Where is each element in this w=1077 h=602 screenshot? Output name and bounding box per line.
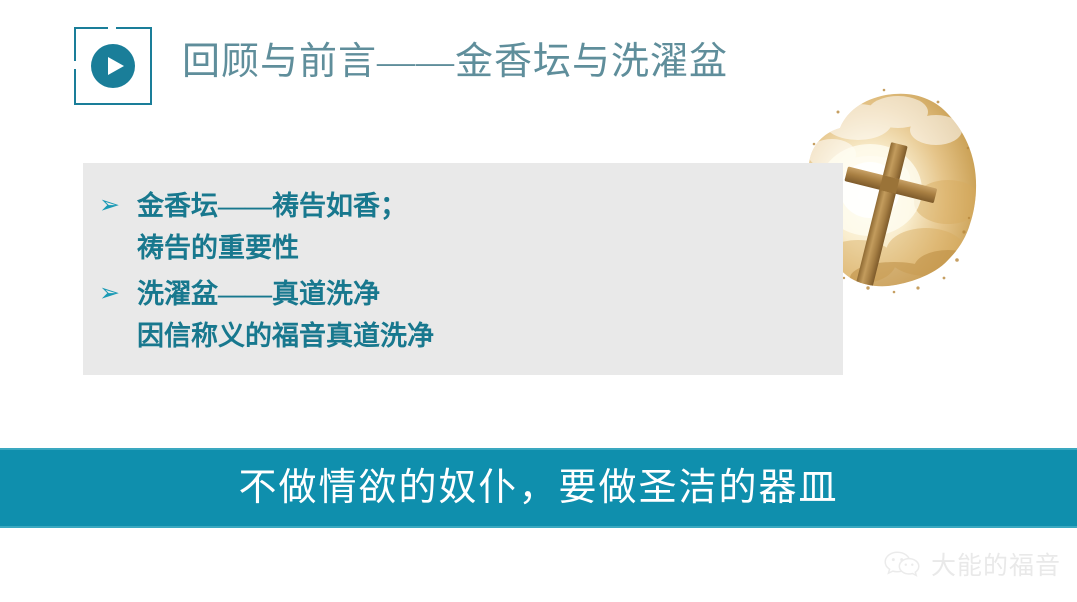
watermark: 大能的福音 (883, 549, 1061, 584)
content-panel: ➢ 金香坛——祷告如香； 祷告的重要性 ➢ 洗濯盆——真道洗净 因信称义的福音真… (83, 163, 843, 375)
bullet-subtext: 祷告的重要性 (137, 227, 833, 269)
frame-edge-top-left (94, 27, 108, 29)
play-circle (91, 44, 135, 88)
frame-corner-bottom-left (74, 83, 96, 105)
highlight-banner: 不做情欲的奴仆，要做圣洁的器皿 (0, 448, 1077, 528)
frame-corner-bottom-right (130, 83, 152, 105)
bullet-subtext: 因信称义的福音真道洗净 (137, 315, 833, 357)
presentation-slide: 回顾与前言——金香坛与洗濯盆 (0, 0, 1077, 602)
frame-edge-left-bottom (74, 69, 76, 103)
frame-edge-bottom (94, 103, 132, 105)
list-item: ➢ 金香坛——祷告如香； 祷告的重要性 (93, 185, 833, 269)
bullet-arrow-icon: ➢ (93, 273, 137, 315)
frame-edge-right (150, 47, 152, 85)
wechat-logo-icon (883, 549, 923, 584)
watermark-text: 大能的福音 (931, 552, 1061, 582)
bullet-arrow-icon: ➢ (93, 185, 137, 227)
bullet-heading: 洗濯盆——真道洗净 (137, 273, 380, 315)
frame-corner-top-left (74, 27, 96, 49)
frame-edge-top-right (116, 27, 150, 29)
banner-text: 不做情欲的奴仆，要做圣洁的器皿 (238, 466, 838, 510)
frame-corner-top-right (130, 27, 152, 49)
bullet-heading: 金香坛——祷告如香； (137, 185, 407, 227)
frame-edge-left-top (74, 47, 76, 61)
list-item: ➢ 洗濯盆——真道洗净 因信称义的福音真道洗净 (93, 273, 833, 357)
play-triangle-icon (108, 57, 124, 75)
bullet-list: ➢ 金香坛——祷告如香； 祷告的重要性 ➢ 洗濯盆——真道洗净 因信称义的福音真… (93, 185, 833, 361)
play-button-icon (74, 27, 152, 105)
page-title: 回顾与前言——金香坛与洗濯盆 (182, 36, 728, 88)
